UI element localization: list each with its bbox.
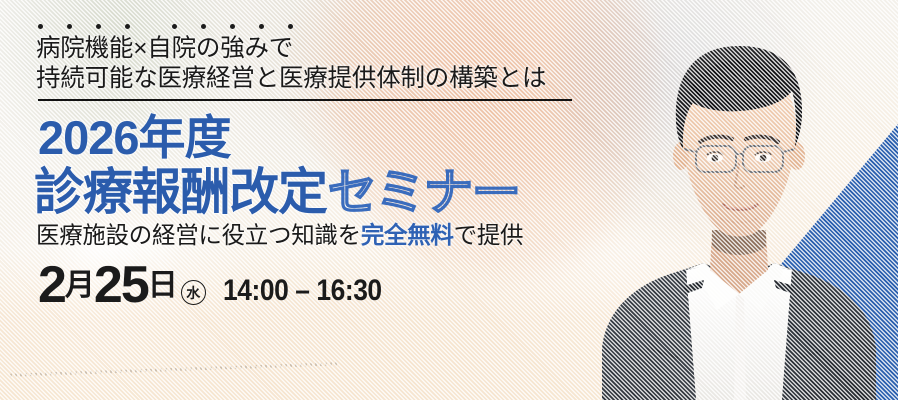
horizontal-rule: [38, 99, 572, 101]
emphasis-dot: [288, 24, 293, 29]
schedule-day-unit: 日: [148, 260, 177, 312]
schedule-month-number: 2: [38, 258, 65, 312]
lead-copy: 病院機能×自院の強みで 持続可能な医療経営と医療提供体制の構築とは: [36, 34, 576, 94]
seminar-banner: 病院機能×自院の強みで 持続可能な医療経営と医療提供体制の構築とは 2026年度…: [0, 0, 898, 400]
schedule-month-unit: 月: [65, 260, 94, 312]
schedule-time: 14:00 – 16:30: [223, 275, 382, 307]
schedule-day-of-week-badge: 水: [181, 280, 206, 305]
schedule-day-number: 25: [94, 258, 148, 312]
emphasis-dot: [172, 24, 177, 29]
seminar-title: 診療報酬改定 セミナー: [34, 163, 520, 222]
title-main-outline: セミナー: [328, 164, 520, 222]
emphasis-dot: [259, 24, 264, 29]
sub-copy-before: 医療施設の経営に役立つ知識を: [36, 222, 361, 248]
sub-copy-highlight: 完全無料: [361, 222, 454, 248]
lead-line-2: 持続可能な医療経営と医療提供体制の構築とは: [36, 64, 576, 94]
emphasis-dot: [125, 24, 130, 29]
title-year: 2026年度: [38, 110, 231, 166]
emphasis-dots: [38, 24, 293, 34]
emphasis-dot: [67, 24, 72, 29]
copy-block: 病院機能×自院の強みで 持続可能な医療経営と医療提供体制の構築とは 2026年度…: [0, 0, 600, 400]
emphasis-dot: [38, 24, 43, 29]
emphasis-dot: [201, 24, 206, 29]
emphasis-dot: [230, 24, 235, 29]
title-main-solid: 診療報酬改定: [34, 163, 327, 221]
speaker-portrait: [596, 18, 882, 400]
sub-copy-after: で提供: [454, 222, 524, 248]
sub-copy: 医療施設の経営に役立つ知識を完全無料で提供: [36, 220, 523, 250]
schedule-line: 2 月 25 日 水 14:00 – 16:30: [38, 258, 403, 312]
lead-line-1: 病院機能×自院の強みで: [36, 35, 293, 62]
emphasis-dot: [96, 24, 101, 29]
